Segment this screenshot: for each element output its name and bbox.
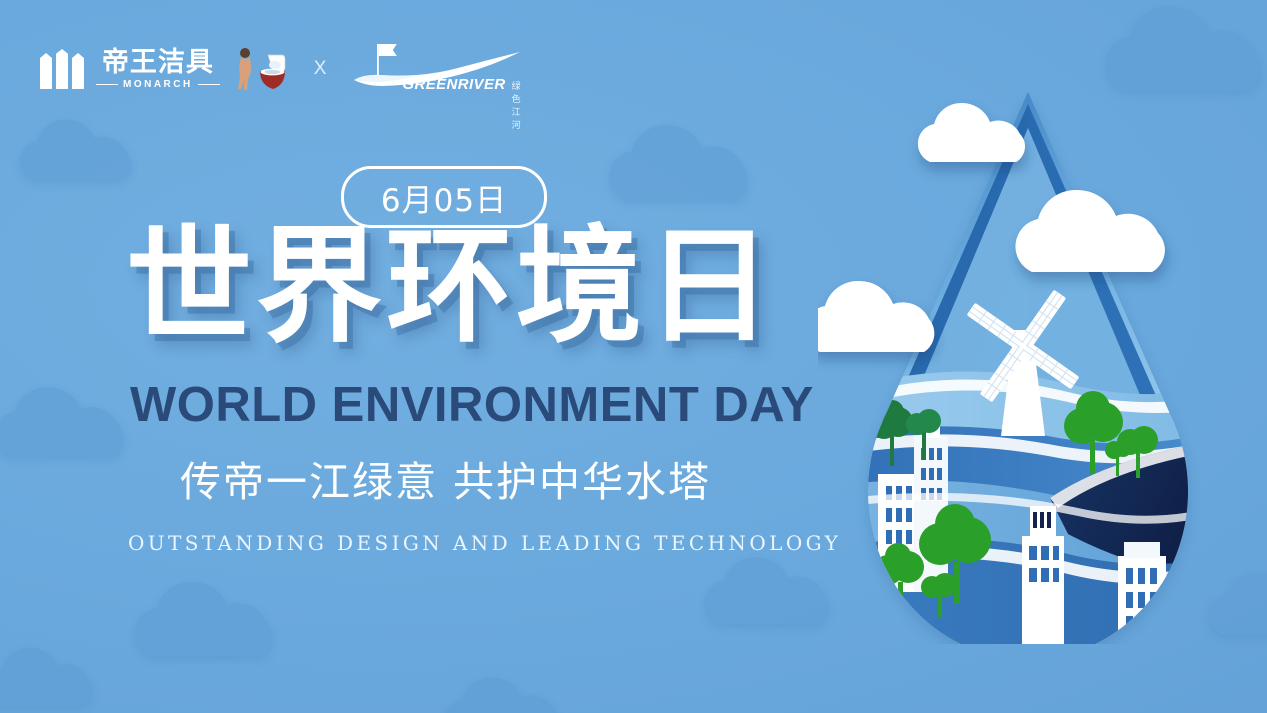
monarch-logo[interactable]: 帝王洁具 MONARCH — [40, 49, 220, 90]
white-cloud — [818, 281, 934, 352]
rule-right — [198, 84, 220, 86]
water-droplet-illustration — [818, 84, 1238, 644]
greenriver-name-cn: 绿色江河 — [512, 79, 526, 131]
tagline-cn: 传帝一江绿意 共护中华水塔 — [180, 462, 711, 503]
rule-left — [96, 84, 118, 86]
poster-canvas: 帝王洁具 MONARCH X — [0, 0, 1267, 713]
monarch-name-en: MONARCH — [123, 80, 193, 90]
greenriver-logo[interactable]: GREENRIVER 绿色江河 — [350, 38, 525, 100]
tagline-en: OUTSTANDING DESIGN AND LEADING TECHNOLOG… — [128, 533, 841, 553]
greenriver-name-en: GREENRIVER — [402, 76, 505, 93]
building-icon — [1118, 542, 1166, 644]
monarch-name-cn: 帝王洁具 — [102, 49, 214, 76]
logo-separator: X — [314, 58, 327, 80]
white-cloud — [918, 103, 1025, 162]
three-pillars-icon — [40, 49, 84, 89]
header-logos: 帝王洁具 MONARCH X — [40, 38, 525, 100]
page-title-cn: 世界环境日 — [126, 224, 776, 350]
page-title-en: WORLD ENVIRONMENT DAY — [130, 381, 814, 430]
person-and-toilet-icon — [234, 45, 290, 93]
